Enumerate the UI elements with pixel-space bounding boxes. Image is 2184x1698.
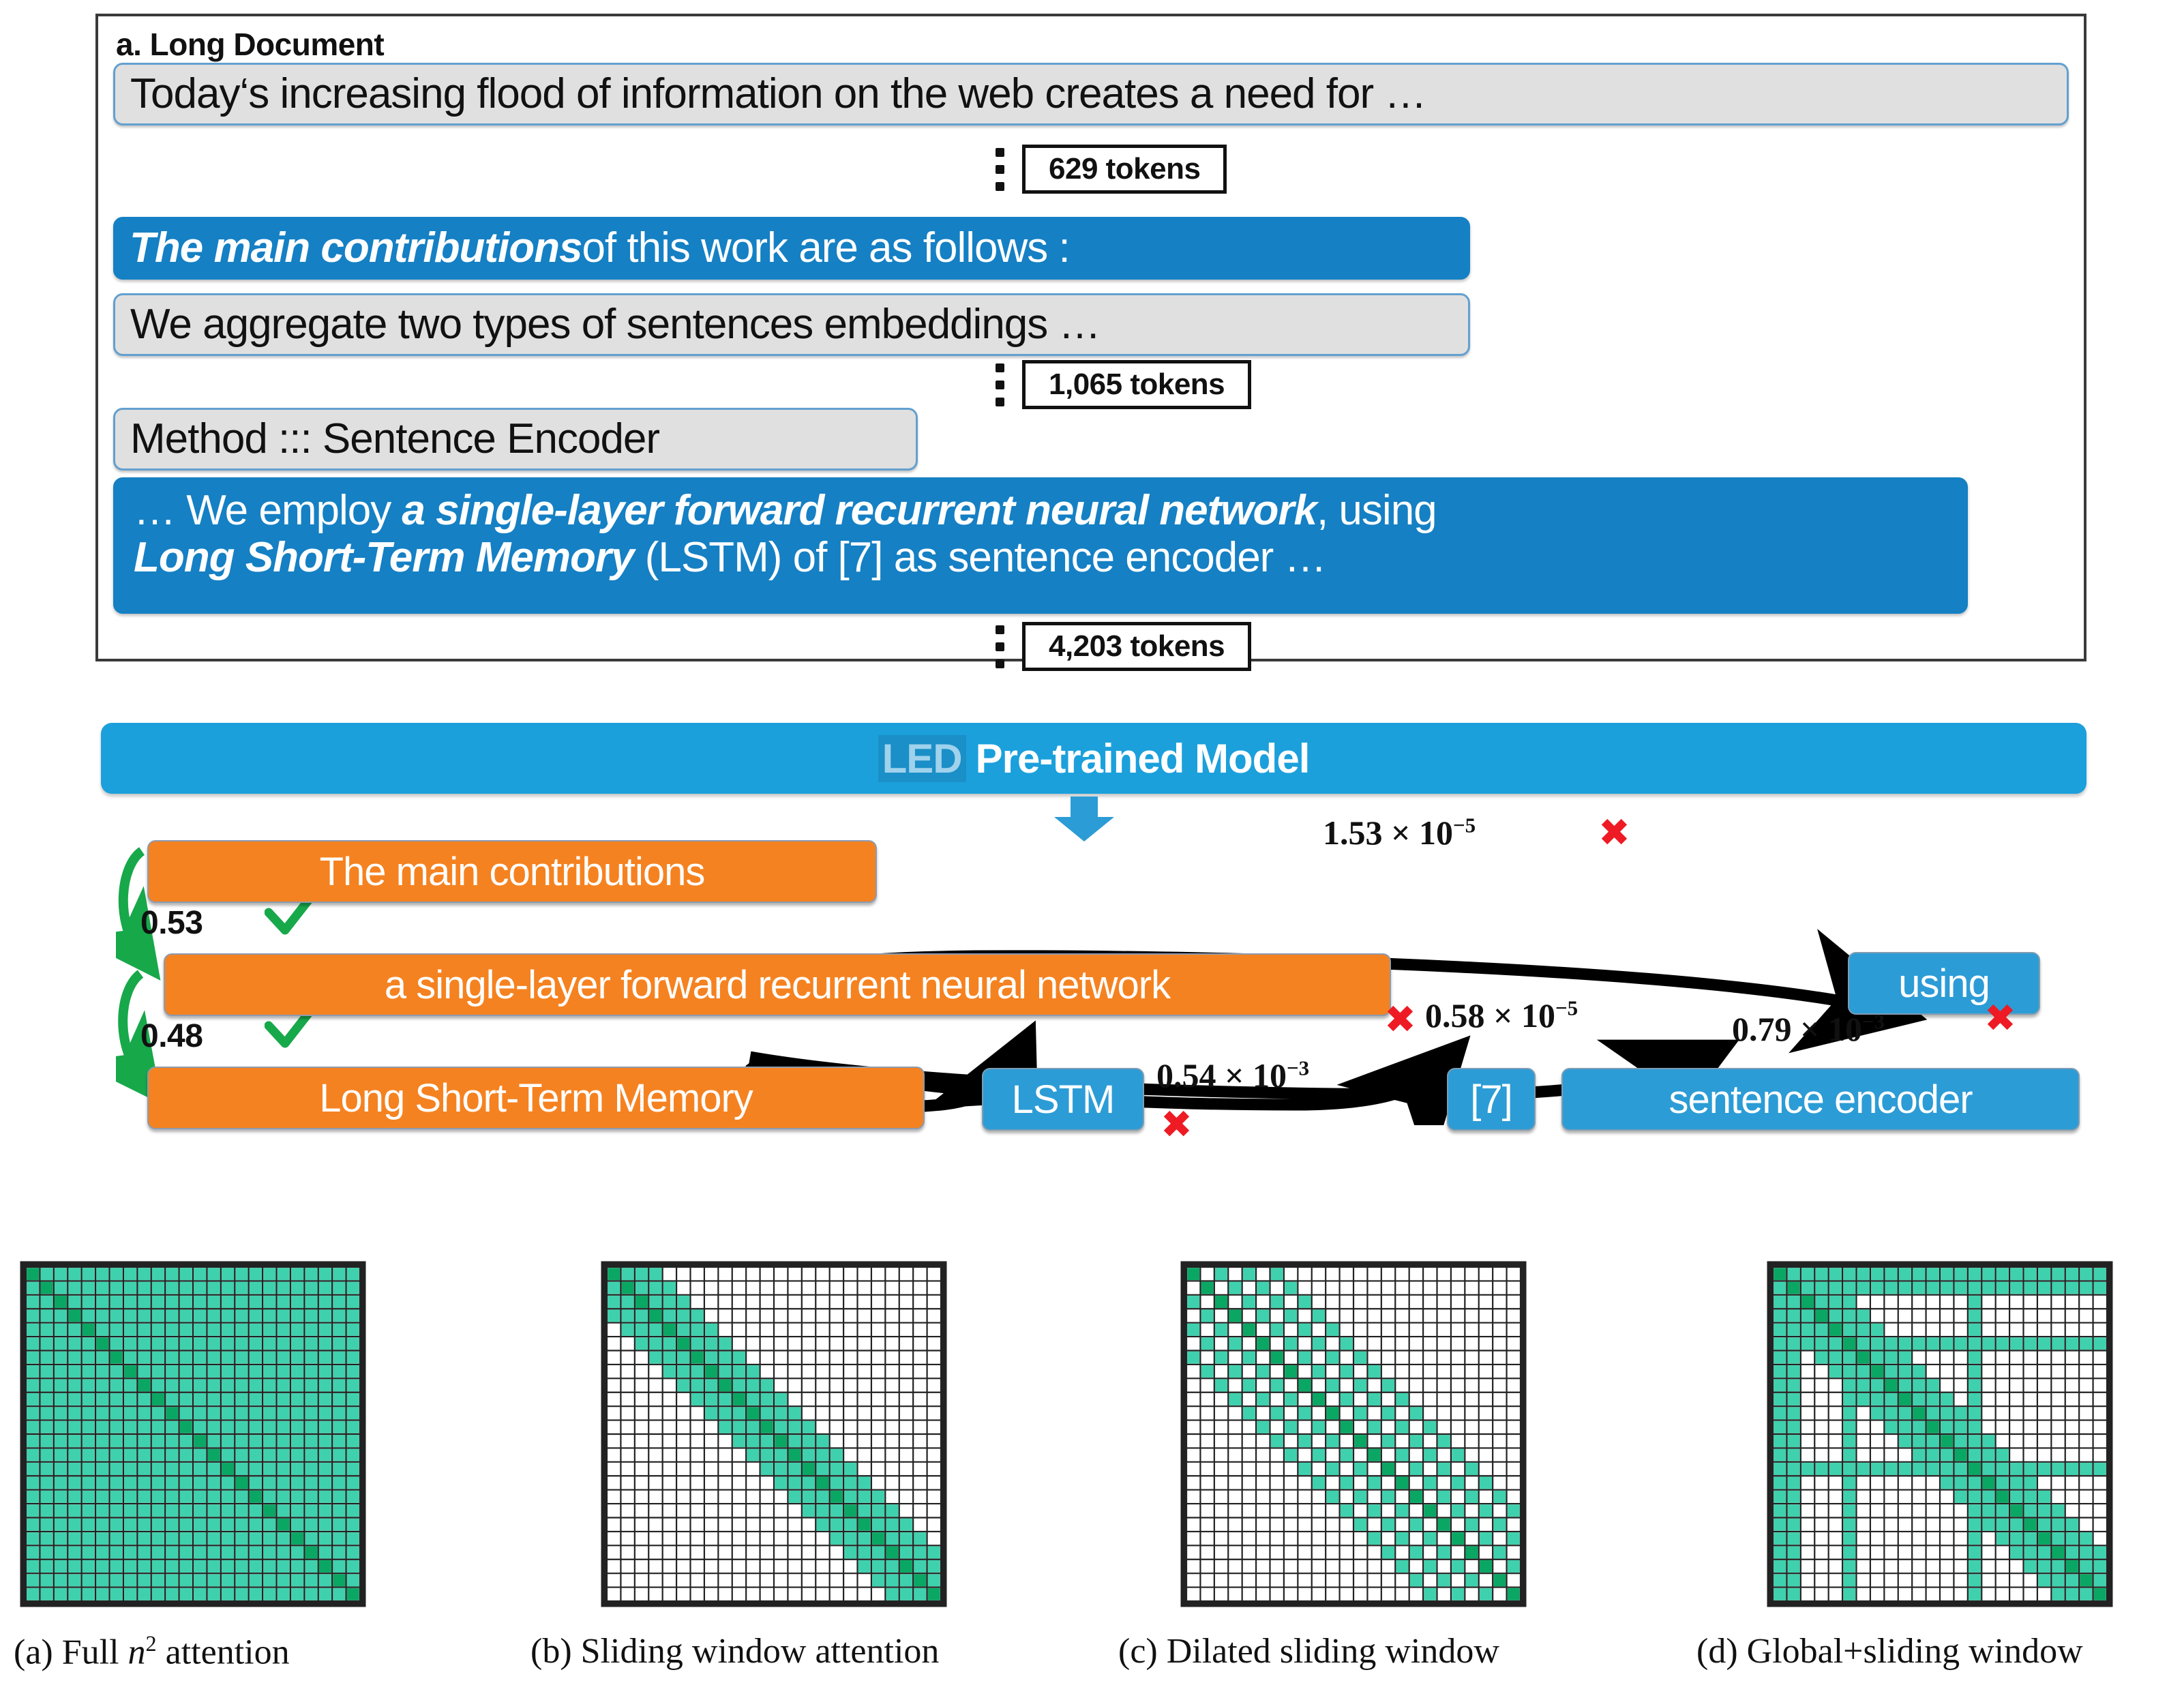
caption-a: (a) Full n2 attention <box>14 1631 290 1672</box>
base: 10 <box>1419 814 1453 852</box>
caption-math: n <box>128 1633 146 1671</box>
token-count-badge: 629 tokens <box>1022 145 1227 194</box>
caption-pre: (b) Sliding window attention <box>530 1632 939 1671</box>
cross-icon: ✖ <box>1384 1001 1416 1039</box>
graph-node-single-layer-rnn[interactable]: a single-layer forward recurrent neural … <box>164 953 1391 1016</box>
score-0-79e-3: 0.79 × 10−3 <box>1732 1009 1885 1049</box>
node-label: a single-layer forward recurrent neural … <box>385 962 1170 1008</box>
node-label: using <box>1898 961 1990 1007</box>
vertical-ellipsis-icon <box>996 625 1004 668</box>
caption-exp: 2 <box>146 1631 157 1656</box>
token-count-badge: 4,203 tokens <box>1022 622 1251 671</box>
attention-grid-b <box>600 1260 948 1608</box>
base: 10 <box>1521 996 1555 1034</box>
attention-matrix-c <box>1180 1260 1527 1608</box>
sentence-text: We aggregate two types of sentences embe… <box>130 301 1101 348</box>
model-bar-label: Pre-trained Model <box>976 735 1310 782</box>
sentence-rest: of this work are as follows : <box>582 224 1069 271</box>
cross-icon: ✖ <box>1598 814 1630 852</box>
sentence-line2-bold: Long Short-Term Memory <box>134 534 634 581</box>
sentence-line1-post: , using <box>1317 487 1437 534</box>
score-0-53: 0.53 <box>140 904 203 942</box>
node-label: LSTM <box>1012 1077 1115 1122</box>
score-value: 0.53 <box>140 905 203 941</box>
vertical-ellipsis-icon <box>996 148 1004 191</box>
score-0-58e-5: 0.58 × 10−5 <box>1425 996 1578 1035</box>
attention-matrix-a <box>19 1260 367 1608</box>
score-0-48: 0.48 <box>140 1017 203 1055</box>
exponent: −5 <box>1555 996 1578 1019</box>
mantissa: 0.79 <box>1732 1010 1792 1048</box>
graph-node-lstm[interactable]: LSTM <box>982 1068 1144 1131</box>
score-0-54e-3: 0.54 × 10−3 <box>1156 1056 1309 1095</box>
exponent: −5 <box>1453 813 1476 837</box>
exponent: −3 <box>1862 1009 1885 1033</box>
base: 10 <box>1253 1056 1287 1094</box>
times-symbol: × <box>1391 814 1411 852</box>
vertical-ellipsis-icon <box>996 363 1004 406</box>
cross-icon: ✖ <box>1984 1000 2016 1038</box>
attention-matrix-d <box>1766 1260 2114 1608</box>
caption-d: (d) Global+sliding window <box>1696 1631 2083 1671</box>
exponent: −3 <box>1287 1056 1309 1079</box>
graph-node-the-main-contributions[interactable]: The main contributions <box>147 840 877 903</box>
caption-c: (c) Dilated sliding window <box>1118 1631 1499 1671</box>
node-label: [7] <box>1470 1077 1512 1122</box>
sentence-text: Method ::: Sentence Encoder <box>130 415 659 462</box>
attention-grid-c <box>1180 1260 1527 1608</box>
times-symbol: × <box>1225 1056 1244 1094</box>
page-title: a. Long Document <box>116 26 384 63</box>
score-1-53e-5: 1.53 × 10−5 <box>1323 813 1476 852</box>
cross-icon: ✖ <box>1161 1106 1193 1144</box>
document-sentence-4: Method ::: Sentence Encoder <box>113 408 918 471</box>
document-sentence-2: The main contributions of this work are … <box>113 217 1470 280</box>
graph-node-reference-7[interactable]: [7] <box>1447 1068 1536 1131</box>
graph-node-long-short-term-memory[interactable]: Long Short-Term Memory <box>147 1067 925 1129</box>
node-label: sentence encoder <box>1669 1077 1972 1122</box>
token-count-badge: 1,065 tokens <box>1022 360 1251 409</box>
led-pretrained-model-bar: LED Pre-trained Model <box>101 723 2086 794</box>
document-sentence-5: … We employ a single-layer forward recur… <box>113 477 1968 614</box>
attention-matrix-b <box>600 1260 948 1608</box>
document-sentence-3: We aggregate two types of sentences embe… <box>113 293 1470 356</box>
mantissa: 1.53 <box>1323 814 1383 852</box>
led-badge: LED <box>878 735 966 782</box>
times-symbol: × <box>1493 996 1513 1034</box>
node-label: The main contributions <box>320 849 705 895</box>
caption-pre: (d) Global+sliding window <box>1696 1632 2083 1671</box>
base: 10 <box>1828 1010 1862 1048</box>
attention-grid-a <box>19 1260 367 1608</box>
token-marker-3: 4,203 tokens <box>996 622 1251 671</box>
sentence-text: Today‘s increasing flood of information … <box>130 70 1426 117</box>
mantissa: 0.54 <box>1156 1056 1216 1094</box>
caption-b: (b) Sliding window attention <box>530 1631 939 1671</box>
sentence-line2-post: (LSTM) of [7] as sentence encoder … <box>634 534 1326 581</box>
sentence-line1-bold: a single-layer forward recurrent neural … <box>402 487 1317 534</box>
document-sentence-1: Today‘s increasing flood of information … <box>113 63 2069 125</box>
attention-grid-d <box>1766 1260 2114 1608</box>
node-label: Long Short-Term Memory <box>319 1075 753 1121</box>
sentence-line1-pre: … We employ <box>134 487 402 534</box>
mantissa: 0.58 <box>1425 996 1485 1034</box>
token-marker-1: 629 tokens <box>996 145 1227 194</box>
token-marker-2: 1,065 tokens <box>996 360 1251 409</box>
score-value: 0.48 <box>140 1018 203 1054</box>
caption-pre: (c) Dilated sliding window <box>1118 1632 1499 1671</box>
graph-node-sentence-encoder[interactable]: sentence encoder <box>1561 1068 2080 1131</box>
caption-post: attention <box>157 1633 290 1671</box>
sentence-bold-prefix: The main contributions <box>130 224 582 271</box>
caption-pre: (a) Full <box>14 1633 128 1671</box>
times-symbol: × <box>1800 1010 1820 1048</box>
